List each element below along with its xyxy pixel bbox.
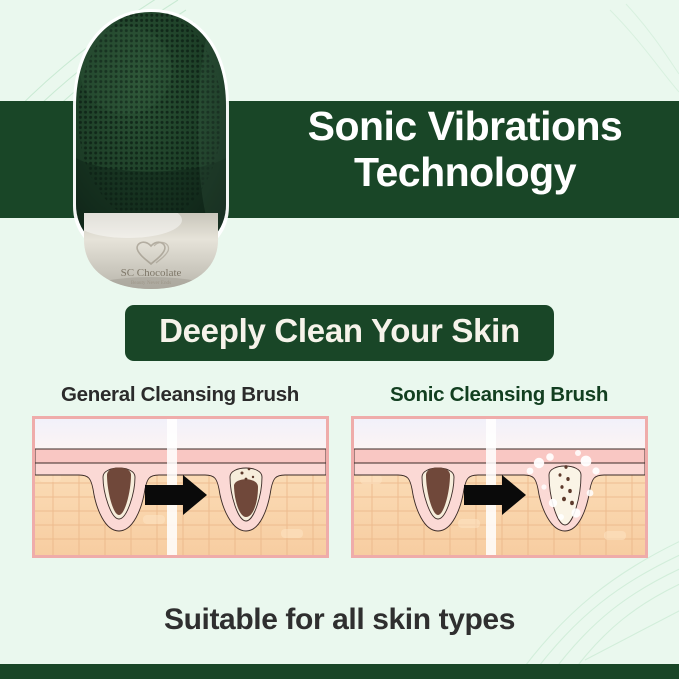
comparison-column-general: General Cleansing Brush: [32, 383, 329, 558]
hero-title-line-2: Technology: [265, 150, 665, 196]
footer-bar: [0, 664, 679, 679]
comparison-column-sonic: Sonic Cleansing Brush: [351, 383, 648, 558]
hero-title-line-1: Sonic Vibrations: [308, 103, 623, 149]
comparison-title-general: General Cleansing Brush: [32, 383, 329, 407]
device-brand-text: SC Chocolate: [121, 267, 182, 279]
skin-diagram-general: [32, 416, 329, 558]
comparison-title-sonic: Sonic Cleansing Brush: [351, 383, 648, 407]
deep-clean-banner-wrap: Deeply Clean Your Skin: [0, 305, 679, 361]
bottom-tagline: Suitable for all skin types: [0, 603, 679, 637]
skin-diagram-sonic: [351, 416, 648, 558]
comparison-section: General Cleansing Brush: [0, 383, 679, 558]
hero-title: Sonic Vibrations Technology: [265, 104, 665, 196]
deep-clean-banner: Deeply Clean Your Skin: [125, 305, 554, 361]
device-base: SC Chocolate Beauty Never Ends: [74, 202, 218, 293]
device-tagline-text: Beauty Never Ends: [131, 280, 171, 286]
product-device-image: SC Chocolate Beauty Never Ends: [68, 8, 234, 293]
hero-section: Sonic Vibrations Technology: [0, 0, 679, 300]
